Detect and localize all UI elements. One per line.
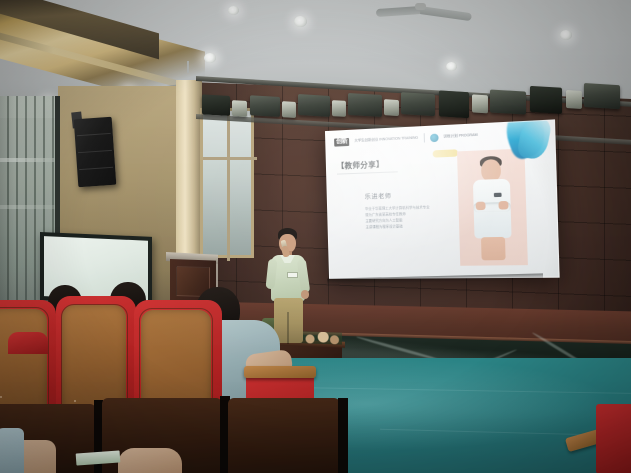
- slide-subtitle: 乐进老师: [365, 191, 392, 201]
- stage-light: [472, 94, 488, 113]
- seat-red-accent: [8, 332, 48, 354]
- foreground-seat-back[interactable]: [228, 398, 340, 473]
- window-mullion: [227, 111, 230, 261]
- auditorium-photo: 创新 大学生创新创业 INNOVATION TRAINING 训练计划 PROG…: [0, 0, 631, 473]
- stage-light: [298, 94, 330, 117]
- seat-armrest-red[interactable]: [596, 404, 631, 473]
- slide-logo-row: 创新 大学生创新创业 INNOVATION TRAINING 训练计划 PROG…: [334, 131, 478, 147]
- university-seal-icon: [430, 133, 439, 142]
- speaker-seam: [79, 167, 113, 170]
- stage-light: [401, 92, 435, 116]
- portrait-hand-right: [498, 201, 508, 210]
- downlight-2: [294, 16, 307, 27]
- slide-title: 【教师分享】: [337, 159, 384, 172]
- ceiling-fan-right: [372, 0, 468, 18]
- seat-screw: [0, 396, 2, 398]
- presenter-hand-resting: [301, 290, 309, 299]
- seat-armrest-wood[interactable]: [244, 366, 316, 378]
- portrait-hand-left: [476, 202, 486, 211]
- seat-screw: [74, 400, 76, 402]
- program-logo-mark: 创新: [334, 137, 349, 146]
- downlight-10: [560, 30, 572, 40]
- stage-light: [282, 101, 296, 118]
- program-logo-text-2: 训练计划 PROGRAM: [443, 133, 477, 139]
- speaker-seam: [78, 150, 112, 153]
- logo-divider: [423, 133, 424, 142]
- pa-speaker: [74, 117, 117, 187]
- slide-surface: 创新 大学生创新创业 INNOVATION TRAINING 训练计划 PROG…: [325, 119, 560, 279]
- program-logo-text-1: 大学生创新创业 INNOVATION TRAINING: [354, 136, 418, 143]
- downlight-3: [204, 53, 216, 63]
- presenter-leg-separation: [287, 312, 289, 344]
- slide-body-line: 主讲课程为程序设计基础: [366, 223, 447, 231]
- stage-light: [439, 90, 469, 118]
- portrait-pocket: [494, 193, 502, 197]
- slide-body-text: 毕业于华南理工大学计算机科学与技术专业 现为广东省某高校专任教师 主要研究方向为…: [365, 204, 446, 231]
- stage-light: [490, 89, 526, 114]
- audience-shoulder-foreground: [0, 428, 24, 473]
- slide-highlight-pill: [433, 149, 459, 157]
- speaker-seam: [77, 133, 111, 136]
- audience-arm-foreground: [118, 448, 182, 473]
- stage-light: [584, 83, 620, 109]
- stage-light: [384, 99, 399, 116]
- window-mullion: [203, 157, 257, 160]
- presenter-name-badge: [287, 272, 298, 278]
- downlight-11: [228, 6, 239, 15]
- stage-light: [348, 93, 382, 117]
- fan-hub: [415, 3, 426, 10]
- projection-screen: 创新 大学生创新创业 INNOVATION TRAINING 训练计划 PROG…: [325, 119, 560, 279]
- downlight-9: [446, 62, 457, 71]
- stage-light: [250, 95, 280, 117]
- stage-light: [530, 86, 562, 114]
- stage-light: [232, 100, 247, 117]
- portrait-lower-body: [481, 237, 506, 260]
- slide-title-underline: [337, 171, 398, 174]
- slide-ribbon-graphic: [495, 119, 560, 170]
- fan-rod: [187, 61, 189, 73]
- stage-light: [332, 100, 346, 117]
- fan-blade: [376, 6, 420, 17]
- stage-light: [566, 90, 582, 109]
- stage-light: [202, 94, 230, 116]
- seat-gap: [338, 398, 348, 473]
